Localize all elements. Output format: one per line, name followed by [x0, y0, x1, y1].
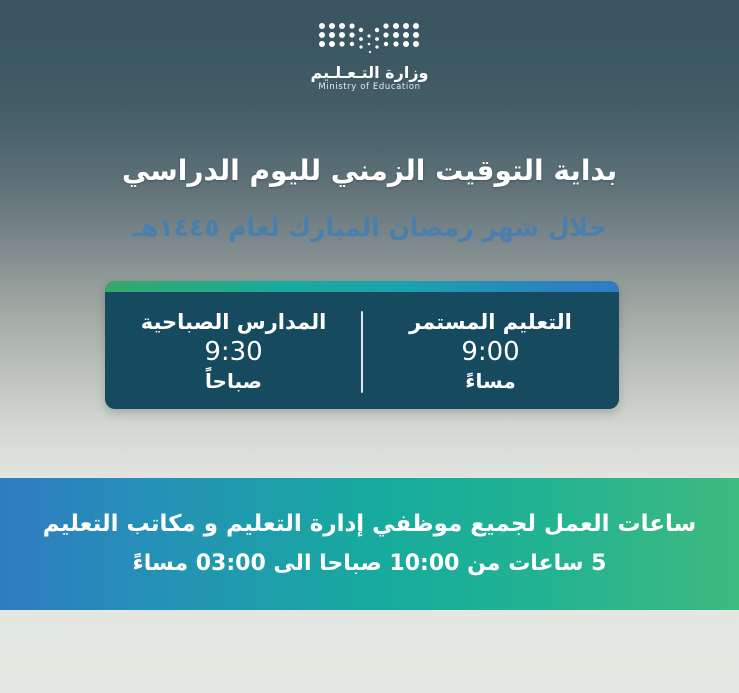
infographic-poster: وزارة التـعـلـيم Ministry of Education ب…: [0, 0, 739, 693]
page-title: بداية التوقيت الزمني لليوم الدراسي: [0, 154, 739, 187]
column-period: صباحاً: [205, 370, 262, 393]
card-body: التعليم المستمر 9:00 مساءً المدارس الصبا…: [105, 292, 619, 409]
work-hours-detail: 5 ساعات من 10:00 صباحا الى 03:00 مساءً: [119, 550, 621, 579]
schedule-card: التعليم المستمر 9:00 مساءً المدارس الصبا…: [105, 281, 619, 409]
page-subtitle: خلال شهر رمضان المبارك لعام ١٤٤٥هـ: [0, 213, 739, 242]
column-label: التعليم المستمر: [409, 310, 572, 334]
ministry-logo: وزارة التـعـلـيم Ministry of Education: [0, 20, 739, 92]
column-time: 9:30: [204, 336, 262, 369]
column-time: 9:00: [461, 336, 519, 369]
work-hours-band: ساعات العمل لجميع موظفي إدارة التعليم و …: [0, 478, 739, 610]
column-label: المدارس الصباحية: [141, 310, 327, 334]
logo-english-name: Ministry of Education: [0, 83, 739, 92]
column-period: مساءً: [465, 370, 515, 393]
ministry-emblem-icon: [315, 20, 425, 60]
column-divider: [361, 311, 363, 393]
work-hours-title: ساعات العمل لجميع موظفي إدارة التعليم و …: [29, 510, 710, 540]
logo-arabic-name: وزارة التـعـلـيم: [0, 64, 739, 82]
schedule-column-morning-schools: المدارس الصباحية 9:30 صباحاً: [105, 292, 362, 409]
card-gradient-bar: [105, 281, 619, 292]
schedule-column-continuing-education: التعليم المستمر 9:00 مساءً: [362, 292, 619, 409]
